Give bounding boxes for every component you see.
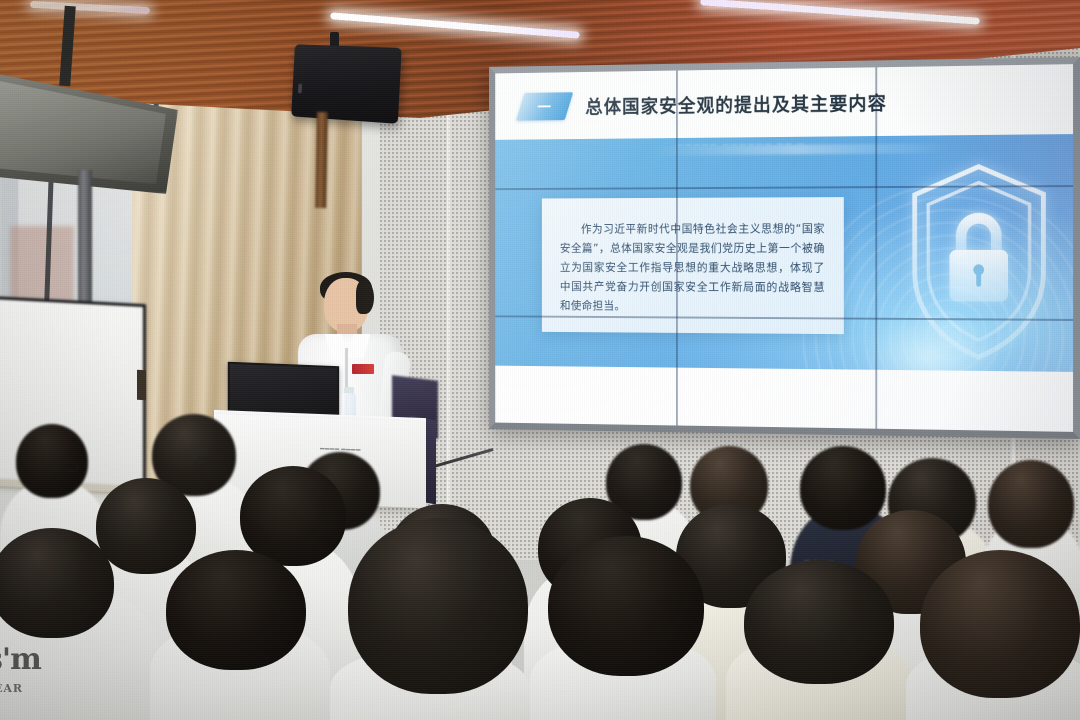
- monitor-pole: [78, 170, 92, 310]
- video-wall-display[interactable]: 一 总体国家安全观的提出及其主要内容 ————— —————— —— —: [489, 57, 1080, 439]
- presenter-name-badge: [352, 364, 374, 374]
- audience-head: [800, 446, 886, 530]
- audience-head: [240, 466, 346, 566]
- eyeglasses: [196, 458, 230, 467]
- lecture-hall-photo: 一 总体国家安全观的提出及其主要内容 ————— —————— —— —: [0, 0, 1080, 720]
- eyeglasses: [48, 462, 78, 471]
- whiteboard-clip: [137, 370, 146, 400]
- shirt-graphic-subtext: EAR: [0, 682, 23, 695]
- audience-head: [0, 528, 114, 638]
- video-wall-frame: [489, 57, 1080, 439]
- audience-head: [744, 560, 894, 684]
- speaker-led: [298, 83, 302, 93]
- audience-head: [166, 550, 306, 670]
- audience-head: [348, 518, 528, 694]
- audience-head: [920, 550, 1080, 698]
- shirt-graphic-text: s'm: [0, 642, 41, 677]
- audience-head: [16, 424, 88, 498]
- audience: EPUL: [0, 400, 1080, 720]
- wooden-post: [315, 112, 328, 208]
- audience-head: [96, 478, 196, 574]
- window-exterior-building: [10, 226, 74, 306]
- audience-head: [548, 536, 704, 676]
- wall-speaker: [291, 44, 402, 124]
- presenter-hair-side: [356, 280, 374, 314]
- audience-head: [988, 460, 1074, 548]
